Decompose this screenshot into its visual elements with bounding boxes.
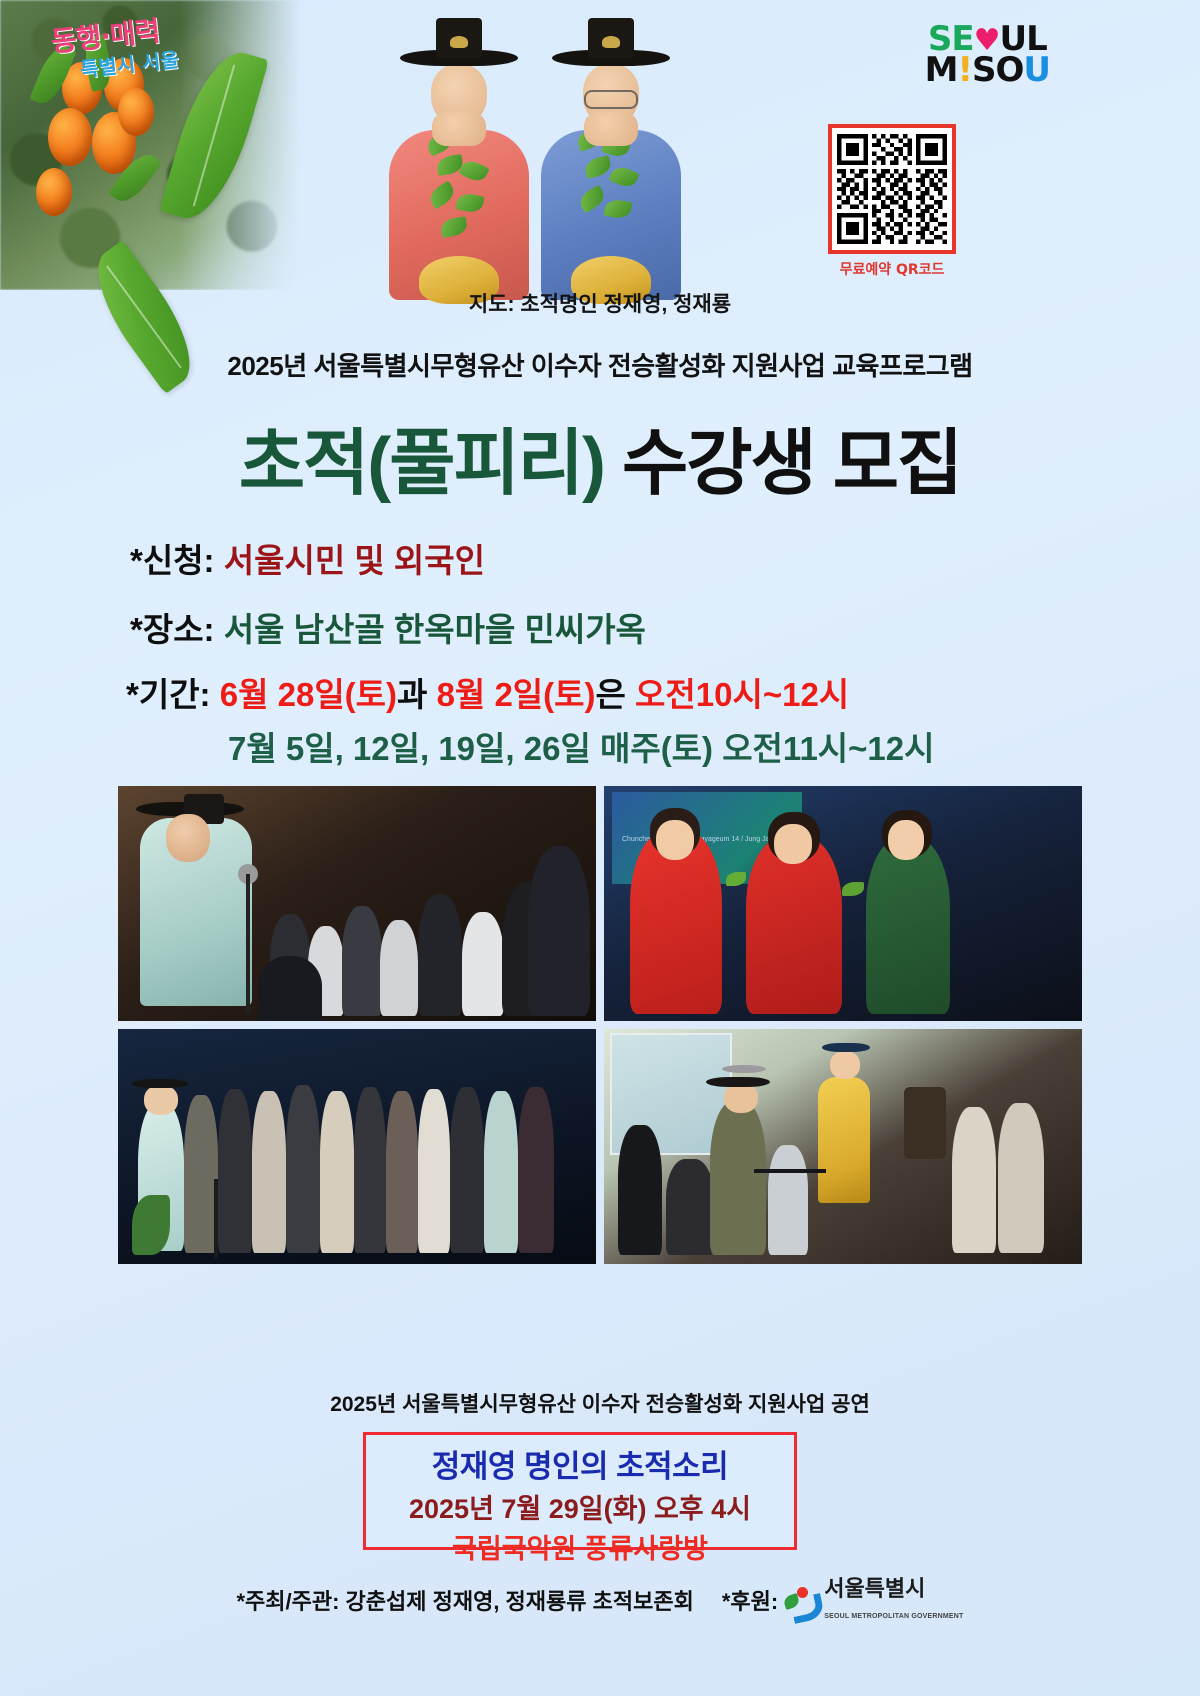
apply-value: 서울시민 및 외국인 [224,542,485,579]
master-face [144,1085,178,1115]
child-face [774,824,812,864]
participant-figure [286,1085,320,1253]
two-chojeok-masters-photo [378,38,708,300]
student-figure [342,906,382,1016]
title-green-part: 초적(풀피리) [239,424,604,504]
master-left-hands [432,112,486,146]
page-title: 초적(풀피리) 수강생 모집 [0,404,1200,509]
student-figure [418,894,462,1016]
place-value: 서울 남산골 한옥마을 민씨가옥 [224,611,646,648]
green-leaf-plant [423,128,495,248]
microphone-boom [754,1169,826,1173]
participant-figure [386,1091,418,1253]
instructor-guide-line: 지도: 초적명인 정재영, 정재룡 [0,288,1200,318]
gat-emblem [602,36,620,48]
info-row-apply: *신청: 서울시민 및 외국인 [130,534,485,582]
performance-announcement-box: 정재영 명인의 초적소리 2025년 7월 29일(화) 오후 4시 국립국악원… [363,1432,797,1550]
footer: *주최/주관: 강춘섭제 정재영, 정재룡류 초적보존회 *후원: 서울특별시 … [0,1578,1200,1622]
gat-hat [400,50,518,66]
performer-face [830,1051,860,1079]
seoul-my-soul-logo: SE♥UL M!SOU [925,24,1050,87]
info-row-place: *장소: 서울 남산골 한옥마을 민씨가옥 [130,603,646,651]
student-figure [380,920,418,1016]
leaf-player-face [724,1083,758,1113]
participant-figure [952,1107,996,1253]
period-date-1: 6월 28일(토) [220,676,397,713]
photo-children-red-hanbok: Chuncheon Ganwasun Gayageum 14 / Jung Ja… [604,786,1082,1021]
participant-figure [418,1089,450,1253]
eyeglasses [584,90,638,109]
performance-datetime: 2025년 7월 29일(화) 오후 4시 [366,1487,794,1526]
audience-figure [666,1159,714,1255]
green-leaf-plant [575,128,647,248]
participant-figure [354,1087,386,1253]
master-right-hands [584,112,638,146]
microphone-stand [214,1179,218,1259]
sponsor-name-block: 서울특별시 SEOUL METROPOLITAN GOVERNMENT [824,1578,963,1622]
audience-figure [618,1125,662,1255]
qr-code-block[interactable]: 무료예약 QR코드 [828,124,956,279]
footer-host: *주최/주관: 강춘섭제 정재영, 정재룡류 초적보존회 [236,1584,693,1616]
kumquat-fruit [118,88,154,136]
student-head-foreground [258,956,322,1021]
participant-figure [320,1091,354,1253]
gong-cymbal [722,1065,766,1073]
kumquat-fruit [48,108,92,166]
qr-svg [837,133,947,245]
gat-hat [822,1043,870,1052]
photo-grid-caption: 2025년 서울특별시무형유산 이수자 전승활성화 지원사업 공연 [0,1388,1200,1418]
performance-title: 정재영 명인의 초적소리 [366,1441,794,1486]
master-right-figure [536,50,686,300]
participant-figure [252,1091,286,1253]
gat-hat [706,1077,770,1087]
master-face [166,814,210,862]
photo-outdoor-stage-performance [604,1029,1082,1264]
period-conj-1: 과 [397,676,437,713]
place-label: *장소: [130,611,224,648]
blue-swoosh-shape [790,1593,826,1624]
stage-chair [904,1087,946,1159]
student-figure [462,912,504,1016]
child-figure [768,1145,808,1255]
leaf-whistle [842,882,864,896]
info-row-period-line2: 7월 5일, 12일, 19일, 26일 매주(토) 오전11시~12시 [228,722,935,770]
leaf-player-figure [710,1101,766,1255]
child-face [656,820,694,860]
seoul-city-logo-mark [784,1586,818,1614]
potted-plant [132,1195,170,1255]
apply-label: *신청: [130,542,224,579]
sponsor-block: *후원: 서울특별시 SEOUL METROPOLITAN GOVERNMENT [722,1578,964,1622]
sponsor-name-korean: 서울특별시 [824,1576,925,1601]
qr-code-image[interactable] [828,124,956,254]
gat-emblem [450,36,468,48]
yellow-hanbok-performer [818,1077,870,1203]
microphone-stand [246,874,250,1014]
sponsor-name-english: SEOUL METROPOLITAN GOVERNMENT [824,1613,963,1620]
participant-figure [484,1091,518,1253]
sponsor-label: *후원: [722,1584,778,1616]
master-left-figure [384,50,534,300]
child-face [888,820,924,860]
gat-hat [552,50,670,66]
photo-master-with-students [118,786,596,1021]
participant-figure [450,1087,484,1253]
participant-figure [998,1103,1044,1253]
period-time-1: 오전10시~12시 [635,676,849,713]
info-row-period-line1: *기간: 6월 28일(토)과 8월 2일(토)은 오전10시~12시 [126,668,849,716]
student-figure-foreground [528,846,590,1016]
period-conj-2: 은 [596,676,636,713]
logo-row-mysoul: M!SOU [925,55,1050,86]
gat-hat [132,1079,188,1088]
dongheng-maeryeok-wordmark: 동행·매력 특별시 서울 [49,8,180,86]
child-green-sweater [866,838,950,1014]
qr-code-label: 무료예약 QR코드 [828,259,956,279]
participant-figure [218,1089,252,1253]
period-date-2: 8월 2일(토) [437,676,596,713]
participant-figure [184,1095,218,1253]
photo-grid: Chuncheon Ganwasun Gayageum 14 / Jung Ja… [118,786,1082,1264]
photo-foreign-participants-stage [118,1029,596,1264]
poster-root: 동행·매력 특별시 서울 SE♥UL M!SOU [0,0,1200,1696]
title-black-part: 수강생 모집 [604,424,961,504]
kumquat-fruit [36,168,72,216]
period-label: *기간: [126,676,220,713]
performance-venue: 국립국악원 풍류사랑방 [366,1527,794,1566]
participant-figure [518,1087,554,1253]
